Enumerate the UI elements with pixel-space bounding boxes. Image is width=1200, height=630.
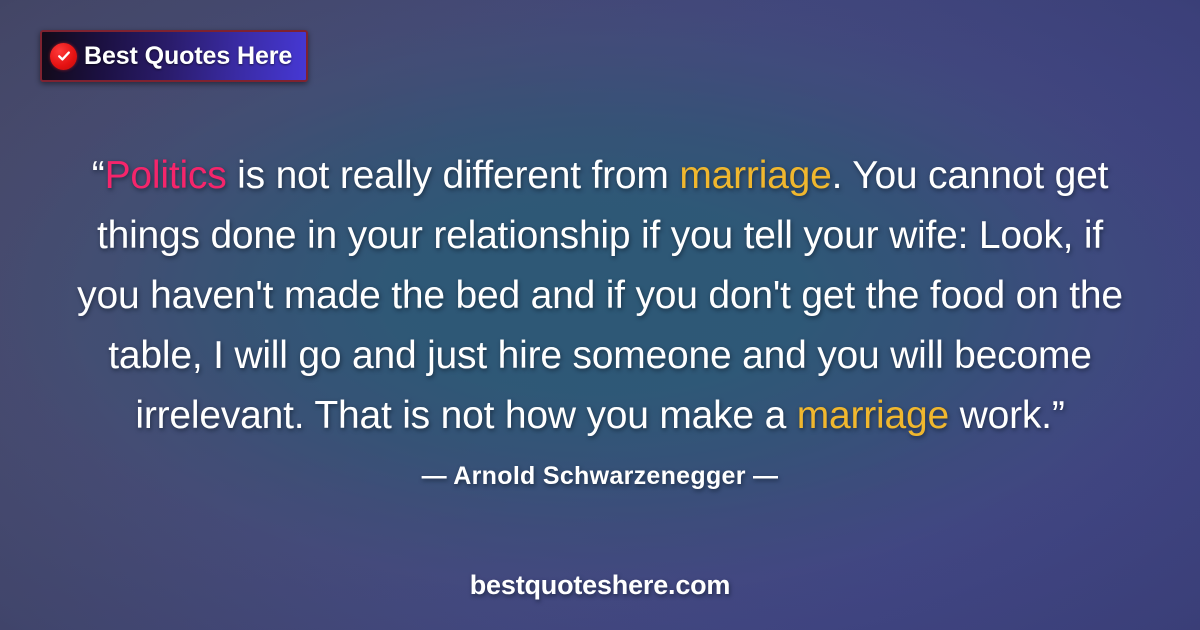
quote-close-text: work.” — [949, 394, 1065, 437]
quote-text: you haven't made the bed and if you don'… — [77, 274, 1123, 317]
quote-attribution: — Arnold Schwarzenegger — — [0, 462, 1200, 491]
quote-text: is not really different from — [227, 154, 680, 197]
quote-text-block: “Politics is not really different from m… — [0, 146, 1200, 446]
quote-line: table, I will go and just hire someone a… — [70, 326, 1130, 386]
quote-text: table, I will go and just hire someone a… — [108, 334, 1091, 377]
quote-line: irrelevant. That is not how you make a m… — [70, 386, 1130, 446]
brand-badge[interactable]: Best Quotes Here — [40, 30, 308, 82]
quote-open-mark: “ — [92, 154, 105, 197]
quote-line: you haven't made the bed and if you don'… — [70, 266, 1130, 326]
quote-line: “Politics is not really different from m… — [70, 146, 1130, 206]
quote-line: things done in your relationship if you … — [70, 206, 1130, 266]
check-circle-icon — [50, 43, 77, 70]
highlight-marriage: marriage — [797, 394, 949, 437]
quote-poster: Best Quotes Here “Politics is not really… — [0, 0, 1200, 630]
brand-name-label: Best Quotes Here — [84, 42, 292, 71]
quote-text: . You cannot get — [832, 154, 1109, 197]
quote-text: things done in your relationship if you … — [97, 214, 1103, 257]
site-url-label: bestquoteshere.com — [0, 570, 1200, 601]
highlight-politics: Politics — [105, 154, 227, 197]
highlight-marriage: marriage — [679, 154, 831, 197]
quote-text: irrelevant. That is not how you make a — [135, 394, 796, 437]
